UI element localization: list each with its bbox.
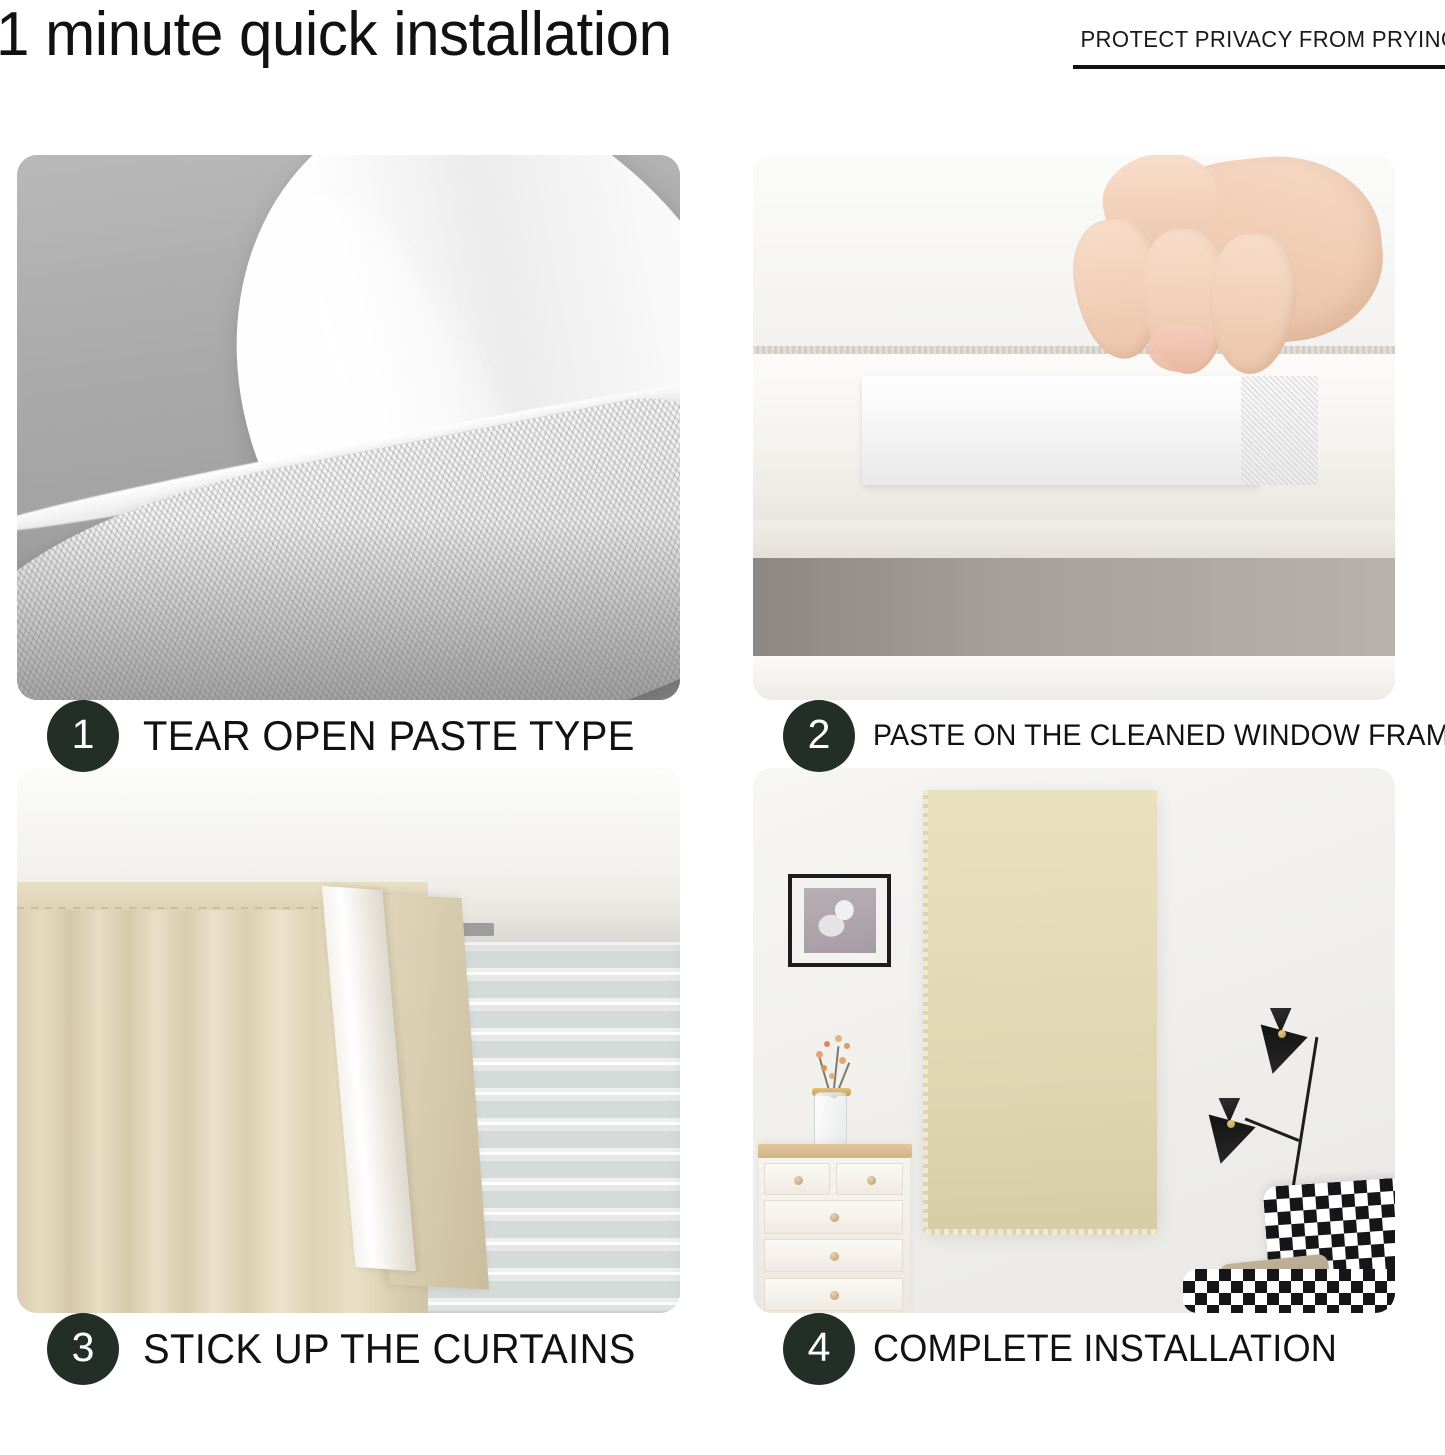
step-badge-3: 3 xyxy=(47,1313,119,1385)
frame-lower-wall xyxy=(753,558,1395,656)
step-badge-1: 1 xyxy=(47,700,119,772)
lamp-joint-2 xyxy=(1227,1120,1235,1128)
hand-pressing-tape xyxy=(1048,155,1382,395)
step-caption-4: 4 COMPLETE INSTALLATION xyxy=(783,1313,1361,1385)
step-card-3: 3 STICK UP THE CURTAINS xyxy=(17,768,680,1313)
hand-thumbnail xyxy=(1148,325,1211,373)
tagline-text: PROTECT PRIVACY FROM PRYING EYES xyxy=(1080,26,1437,53)
steps-grid: 1 TEAR OPEN PASTE TYPE 2 xyxy=(0,150,1445,1455)
wall-art-print xyxy=(804,888,876,954)
step-image-4 xyxy=(753,768,1395,1313)
white-dresser xyxy=(759,1144,910,1313)
step-card-1: 1 TEAR OPEN PASTE TYPE xyxy=(17,155,680,700)
step-label-1: TEAR OPEN PASTE TYPE xyxy=(143,712,635,760)
step-image-3 xyxy=(17,768,680,1313)
step-label-2: PASTE ON THE CLEANED WINDOW FRAME xyxy=(873,719,1445,753)
step-card-2: 2 PASTE ON THE CLEANED WINDOW FRAME xyxy=(753,155,1395,700)
step-label-4: COMPLETE INSTALLATION xyxy=(873,1328,1337,1371)
frame-ledge xyxy=(753,520,1395,564)
header: 1 minute quick installation PROTECT PRIV… xyxy=(0,0,1445,150)
step-badge-2: 2 xyxy=(783,700,855,772)
frame-baseboard xyxy=(753,656,1395,700)
step-caption-3: 3 STICK UP THE CURTAINS xyxy=(47,1313,662,1385)
dresser-wood-top xyxy=(758,1144,912,1158)
step-label-3: STICK UP THE CURTAINS xyxy=(143,1325,636,1373)
branch-berry-2 xyxy=(824,1041,830,1047)
step-caption-2: 2 PASTE ON THE CLEANED WINDOW FRAME xyxy=(783,700,1445,772)
page-title: 1 minute quick installation xyxy=(0,2,672,67)
room-ceiling xyxy=(17,768,680,877)
hand-finger-3 xyxy=(1205,232,1299,377)
branch-berry-7 xyxy=(829,1073,835,1079)
branch-berry-5 xyxy=(839,1057,846,1064)
installed-curtain xyxy=(926,790,1157,1231)
wall-art-frame xyxy=(788,874,891,967)
step-image-2 xyxy=(753,155,1395,700)
wall-art-mat xyxy=(792,878,887,963)
checkered-armchair-seat xyxy=(1183,1269,1395,1313)
step-image-1 xyxy=(17,155,680,700)
dresser-knob-2 xyxy=(867,1176,876,1185)
step-caption-1: 1 TEAR OPEN PASTE TYPE xyxy=(47,700,661,772)
step-badge-4: 4 xyxy=(783,1313,855,1385)
tape-lower-shadow xyxy=(17,520,680,700)
lamp-joint-1 xyxy=(1278,1030,1286,1038)
step-card-4: 4 COMPLETE INSTALLATION xyxy=(753,768,1395,1313)
tagline-divider xyxy=(1073,65,1445,69)
tagline-block: PROTECT PRIVACY FROM PRYING EYES xyxy=(1073,26,1445,69)
